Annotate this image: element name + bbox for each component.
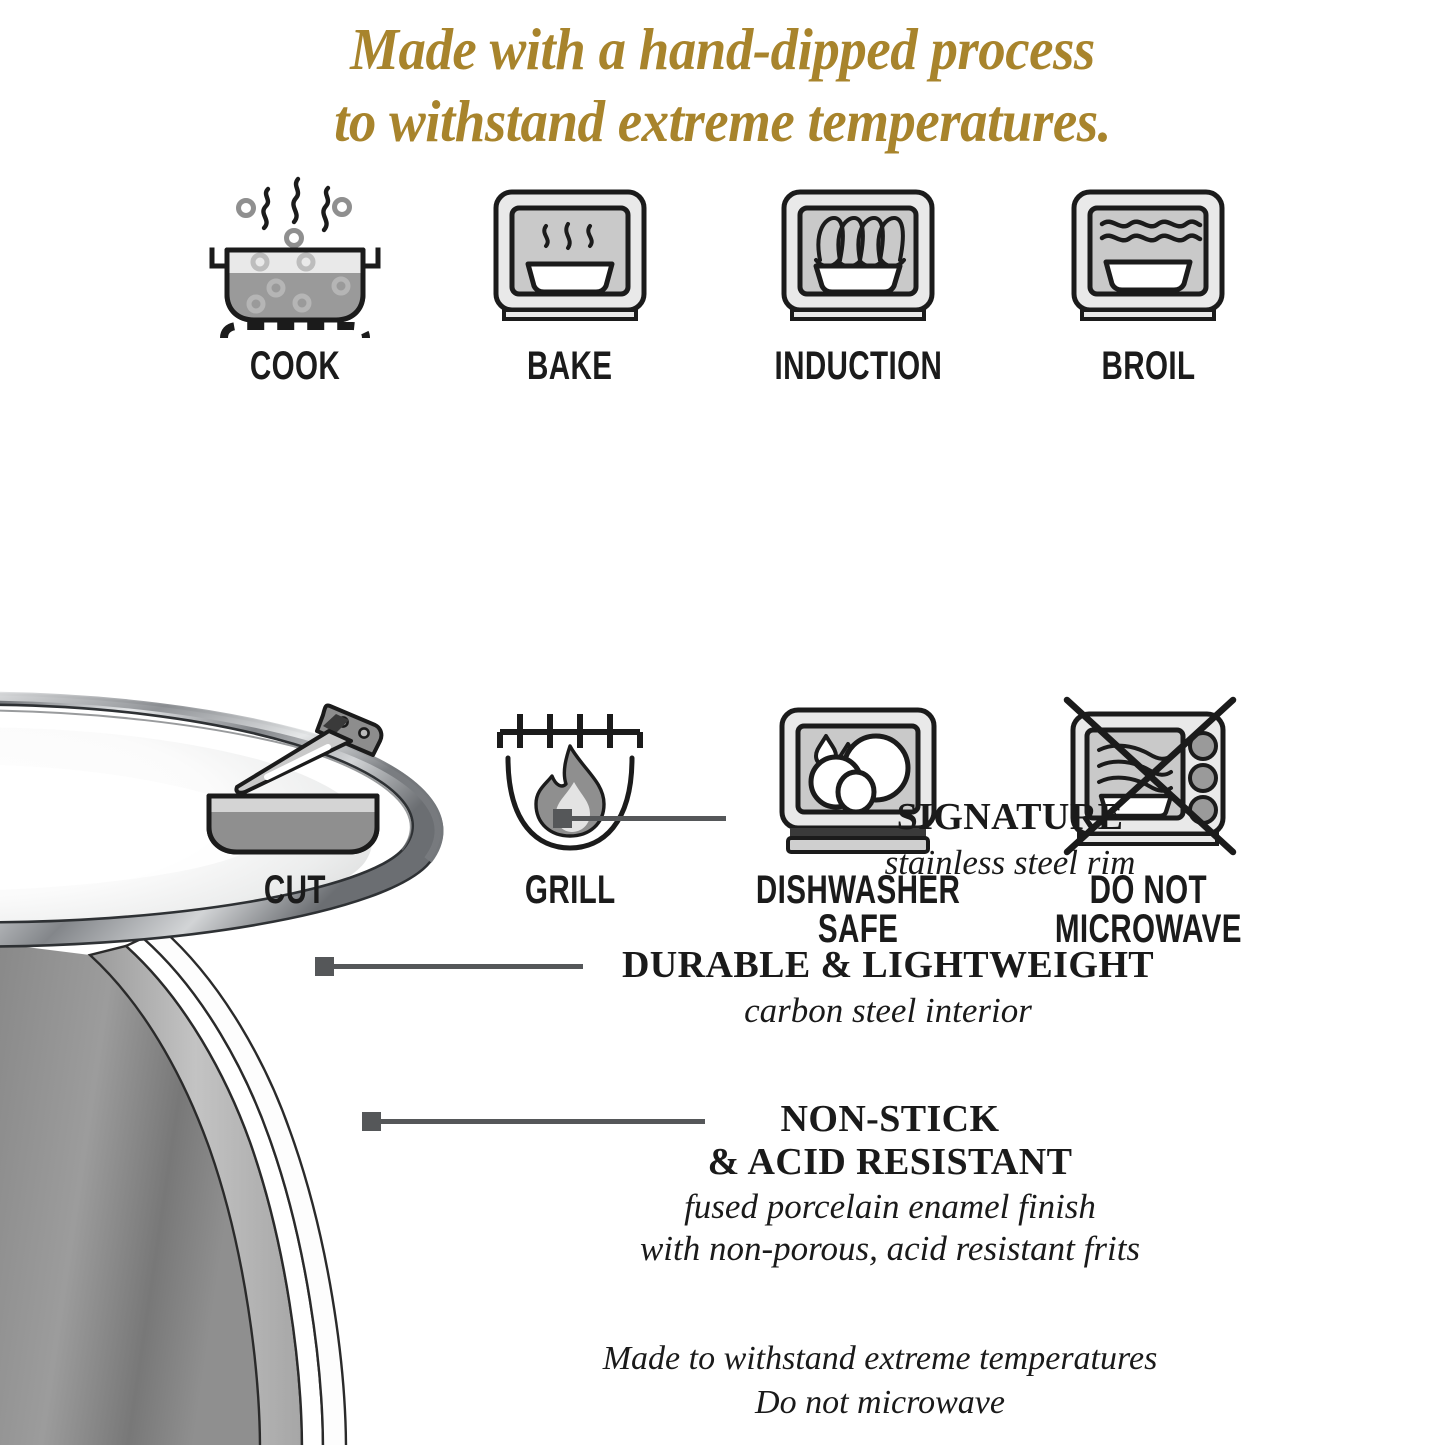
signature-callout-subtitle: stainless steel rim xyxy=(720,842,1300,884)
grill-icon xyxy=(486,692,654,867)
leader-marker-non-stick xyxy=(362,1112,381,1131)
icon-cell-induction: INDUCTION xyxy=(733,168,983,386)
non-stick-callout-subtitle-line-2: with non-porous, acid resistant frits xyxy=(540,1228,1240,1270)
durable-callout: DURABLE & LIGHTWEIGHT carbon steel inter… xyxy=(578,944,1198,1032)
icon-label-induction: INDUCTION xyxy=(774,347,942,386)
footnote-line-2: Do not microwave xyxy=(520,1381,1240,1425)
durable-callout-subtitle: carbon steel interior xyxy=(578,990,1198,1032)
icon-label-grill: GRILL xyxy=(525,871,616,910)
non-stick-callout-title-line-2: & ACID RESISTANT xyxy=(540,1141,1240,1184)
signature-callout-title: SIGNATURE xyxy=(720,796,1300,839)
signature-callout: SIGNATURE stainless steel rim xyxy=(720,796,1300,884)
icon-cell-cook: COOK xyxy=(170,168,420,386)
icon-cell-cut: CUT xyxy=(170,692,420,910)
icon-label-bake: BAKE xyxy=(527,347,612,386)
icon-label-cook: COOK xyxy=(250,347,340,386)
induction-icon xyxy=(774,168,942,343)
non-stick-callout-subtitle-line-1: fused porcelain enamel finish xyxy=(540,1186,1240,1228)
icon-label-cut: CUT xyxy=(264,871,326,910)
leader-marker-signature xyxy=(553,809,572,828)
page-title: Made with a hand-dipped process to withs… xyxy=(51,14,1395,158)
leader-line-signature xyxy=(556,816,726,821)
leader-marker-durable xyxy=(315,957,334,976)
headline-line-1: Made with a hand-dipped process xyxy=(350,16,1095,82)
leader-line-durable xyxy=(318,964,583,969)
headline-line-2: to withstand extreme temperatures. xyxy=(51,86,1395,158)
icon-label-broil: BROIL xyxy=(1101,347,1195,386)
broil-icon xyxy=(1064,168,1232,343)
footnote-line-1: Made to withstand extreme temperatures xyxy=(520,1337,1240,1381)
non-stick-callout-title-line-1: NON-STICK xyxy=(540,1098,1240,1141)
non-stick-callout: NON-STICK & ACID RESISTANT fused porcela… xyxy=(540,1098,1240,1270)
icon-cell-bake: BAKE xyxy=(445,168,695,386)
footnote: Made to withstand extreme temperatures D… xyxy=(520,1337,1240,1424)
infographic-page: Made with a hand-dipped process to withs… xyxy=(0,0,1445,1445)
icon-cell-grill: GRILL xyxy=(445,692,695,910)
icon-cell-broil: BROIL xyxy=(1023,168,1273,386)
bake-icon xyxy=(486,168,654,343)
cut-icon xyxy=(197,692,393,867)
cook-icon xyxy=(202,168,388,343)
durable-callout-title: DURABLE & LIGHTWEIGHT xyxy=(578,944,1198,987)
